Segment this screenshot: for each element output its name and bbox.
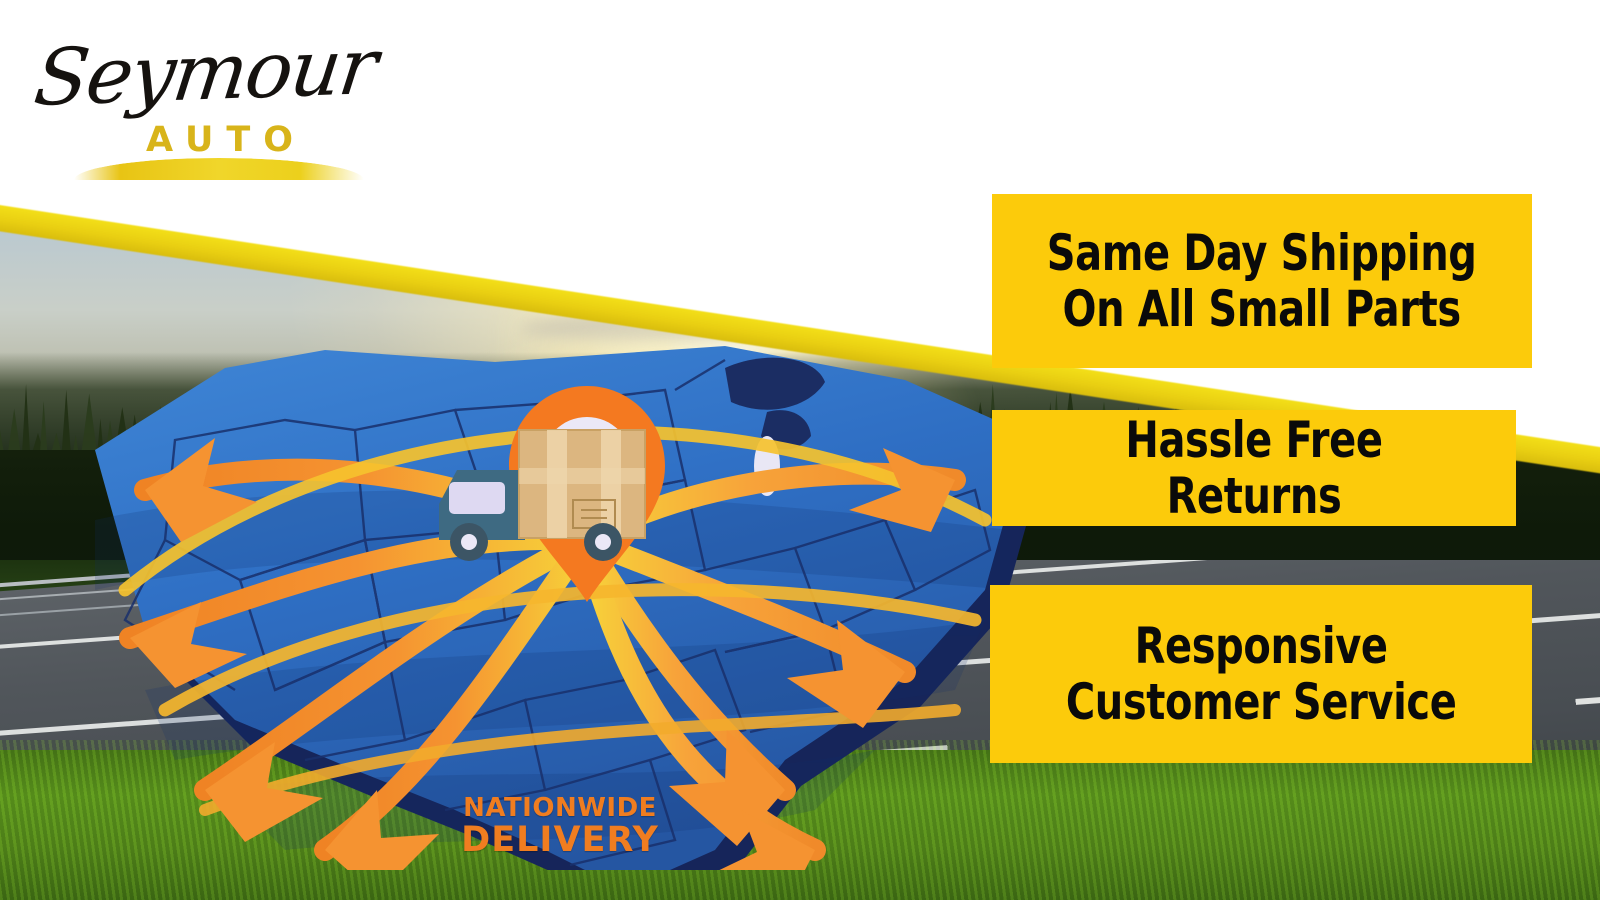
feature-box-responsive-customer-service[interactable]: Responsive Customer Service <box>990 585 1532 763</box>
nationwide-delivery-label: NATIONWIDE DELIVERY <box>450 795 670 860</box>
usa-map-svg <box>25 290 1045 870</box>
feature-box-1-text: Same Day Shipping On All Small Parts <box>1047 225 1477 337</box>
feature-box-hassle-free-returns[interactable]: Hassle Free Returns <box>992 410 1516 526</box>
feature-box-same-day-shipping[interactable]: Same Day Shipping On All Small Parts <box>992 194 1532 368</box>
nationwide-map-graphic: NATIONWIDE DELIVERY <box>25 290 1045 870</box>
logo-subtext: AUTO <box>146 120 306 160</box>
logo-wordmark: Seymour <box>30 22 381 124</box>
nationwide-label-line2: DELIVERY <box>450 821 670 860</box>
logo-swoosh <box>74 158 364 180</box>
nationwide-label-line1: NATIONWIDE <box>450 795 670 821</box>
brand-logo[interactable]: Seymour AUTO <box>34 22 354 177</box>
promo-banner: Seymour AUTO <box>0 0 1600 900</box>
feature-box-2-text: Hassle Free Returns <box>1044 412 1463 524</box>
feature-box-3-text: Responsive Customer Service <box>1066 618 1457 730</box>
